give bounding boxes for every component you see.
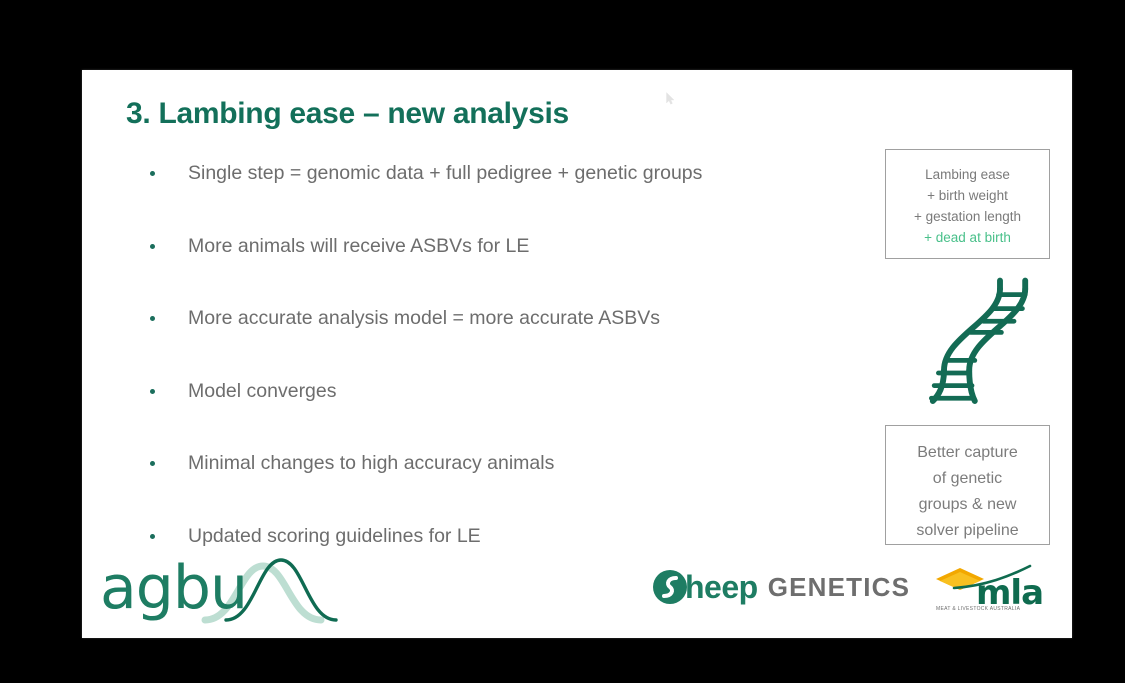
bullet-list: Single step = genomic data + full pedigr…	[150, 162, 890, 597]
mla-tagline: MEAT & LIVESTOCK AUSTRALIA	[936, 606, 1020, 612]
bullet-text: Single step = genomic data + full pedigr…	[188, 162, 702, 184]
presentation-slide: 3. Lambing ease – new analysis Single st…	[82, 70, 1072, 638]
mla-logo: mla MEAT & LIVESTOCK AUSTRALIA	[930, 562, 1065, 618]
bullet-dot-icon	[150, 534, 155, 539]
callout-line: groups & new	[886, 492, 1049, 518]
mla-wordmark: mla	[976, 576, 1043, 610]
video-frame-backdrop: 3. Lambing ease – new analysis Single st…	[0, 0, 1125, 683]
callout-line: + birth weight	[886, 185, 1049, 206]
list-item: Minimal changes to high accuracy animals	[150, 452, 890, 525]
callout-box-benefits: Better capture of genetic groups & new s…	[885, 425, 1050, 545]
callout-box-traits: Lambing ease + birth weight + gestation …	[885, 149, 1050, 259]
bullet-dot-icon	[150, 244, 155, 249]
callout-line: of genetic	[886, 466, 1049, 492]
sheep-wordmark: heep	[685, 570, 758, 604]
bullet-text: Minimal changes to high accuracy animals	[188, 452, 554, 474]
bullet-dot-icon	[150, 316, 155, 321]
bullet-text: More animals will receive ASBVs for LE	[188, 235, 529, 257]
cursor-artifact-icon	[666, 92, 675, 105]
sheep-genetics-logo: heep GENETICS	[652, 564, 910, 610]
agbu-wordmark: agbu	[100, 558, 247, 618]
page-title: 3. Lambing ease – new analysis	[126, 97, 569, 131]
bullet-dot-icon	[150, 171, 155, 176]
callout-line: Better capture	[886, 440, 1049, 466]
callout-line-highlight: + dead at birth	[886, 227, 1049, 248]
list-item: Model converges	[150, 380, 890, 453]
bullet-text: Updated scoring guidelines for LE	[188, 525, 481, 547]
sheep-genetics-s-badge-icon	[652, 569, 688, 605]
bullet-text: Model converges	[188, 380, 337, 402]
callout-line: solver pipeline	[886, 518, 1049, 544]
bullet-dot-icon	[150, 389, 155, 394]
genetics-wordmark: GENETICS	[768, 570, 911, 604]
agbu-logo: agbu	[100, 552, 350, 624]
list-item: Single step = genomic data + full pedigr…	[150, 162, 890, 235]
callout-line: Lambing ease	[886, 164, 1049, 185]
bullet-text: More accurate analysis model = more accu…	[188, 307, 660, 329]
list-item: More animals will receive ASBVs for LE	[150, 235, 890, 308]
callout-line: + gestation length	[886, 206, 1049, 227]
bullet-dot-icon	[150, 461, 155, 466]
dna-helix-icon	[902, 275, 1042, 415]
list-item: More accurate analysis model = more accu…	[150, 307, 890, 380]
